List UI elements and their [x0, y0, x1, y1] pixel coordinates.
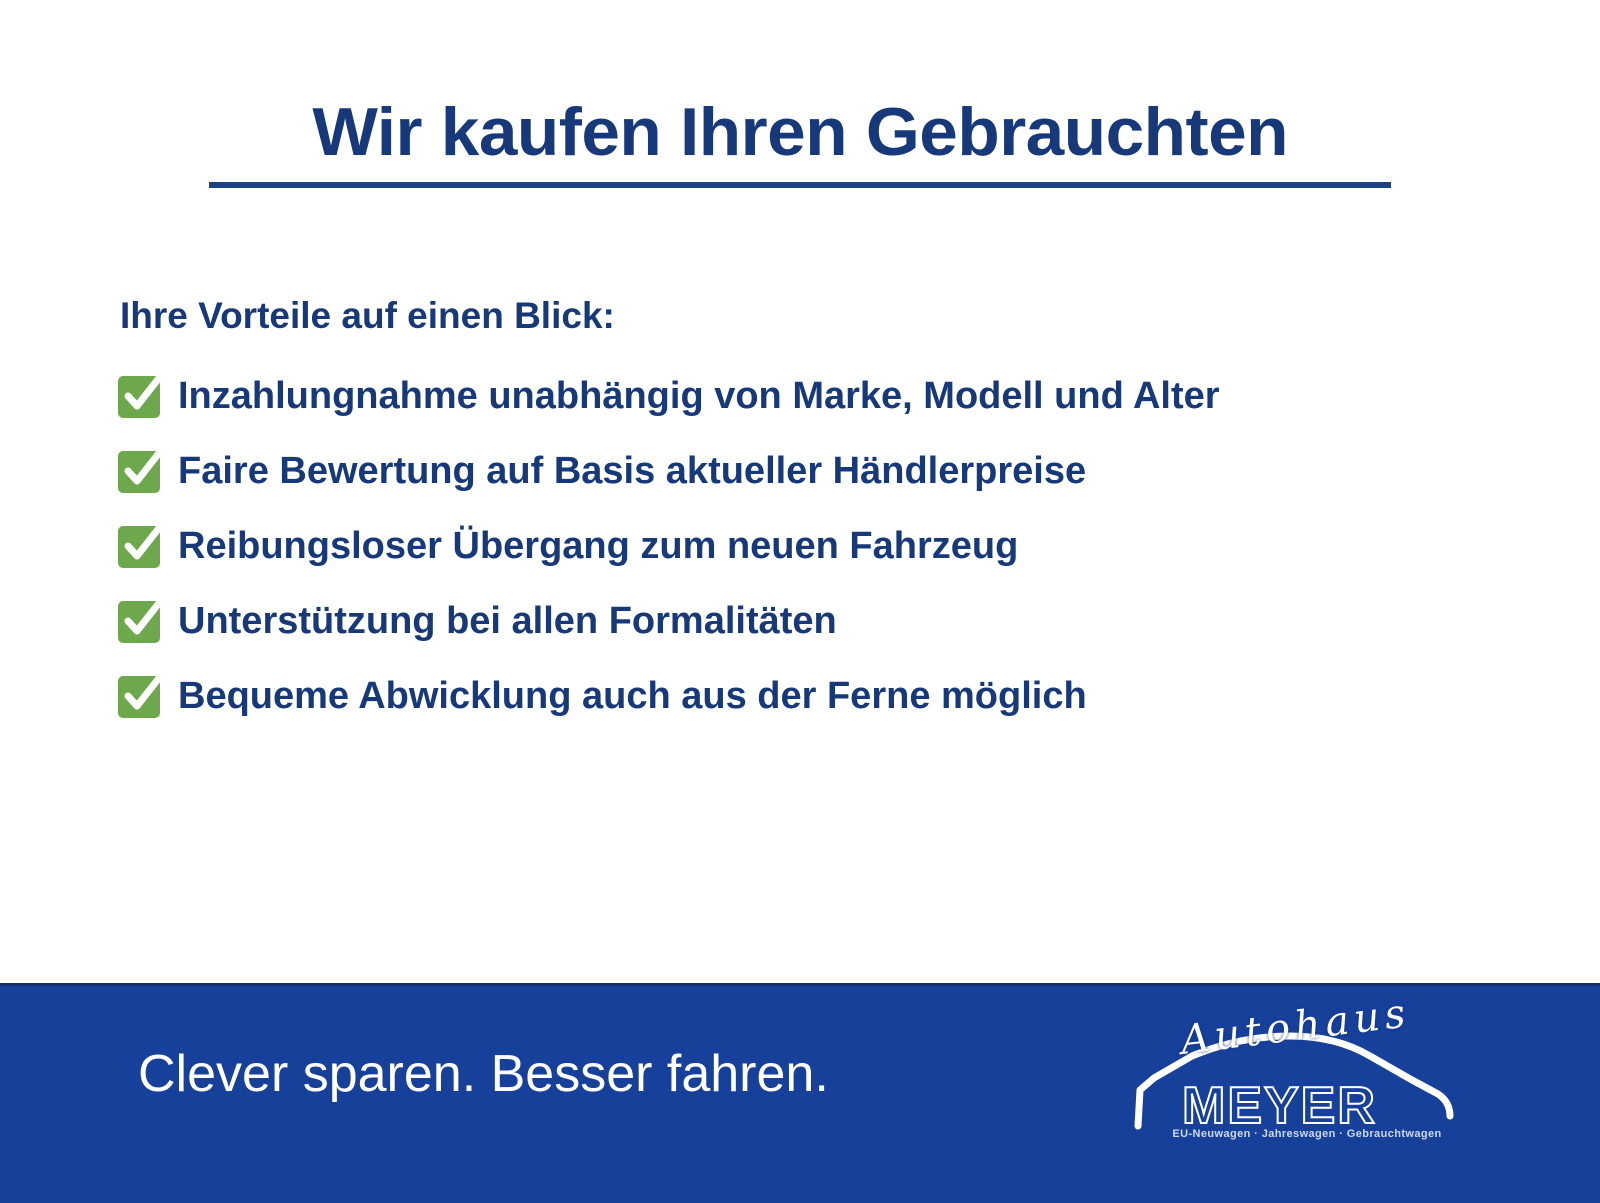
list-item: Unterstützung bei allen Formalitäten — [118, 596, 1518, 648]
list-item: Inzahlungnahme unabhängig von Marke, Mod… — [118, 371, 1518, 423]
list-item-label: Reibungsloser Übergang zum neuen Fahrzeu… — [178, 527, 1018, 567]
list-item: Bequeme Abwicklung auch aus der Ferne mö… — [118, 671, 1518, 723]
title-underline-rule — [209, 182, 1391, 188]
page-title: Wir kaufen Ihren Gebrauchten — [312, 98, 1288, 166]
check-square-icon — [118, 451, 160, 493]
footer-band: Clever sparen. Besser fahren. Autohaus M… — [0, 983, 1600, 1203]
advertisement-page: Wir kaufen Ihren Gebrauchten Ihre Vortei… — [0, 0, 1600, 1200]
benefits-section: Ihre Vorteile auf einen Blick: Inzahlung… — [118, 296, 1518, 723]
benefits-heading: Ihre Vorteile auf einen Blick: — [120, 296, 1518, 337]
check-square-icon — [118, 601, 160, 643]
logo-tagline: EU-Neuwagen · Jahreswagen · Gebrauchtwag… — [1142, 1128, 1472, 1140]
list-item: Reibungsloser Übergang zum neuen Fahrzeu… — [118, 521, 1518, 573]
check-square-icon — [118, 526, 160, 568]
list-item-label: Unterstützung bei allen Formalitäten — [178, 602, 837, 642]
check-square-icon — [118, 676, 160, 718]
list-item-label: Bequeme Abwicklung auch aus der Ferne mö… — [178, 677, 1087, 717]
dealer-logo: Autohaus MEYER EU-Neuwagen · Jahreswagen… — [1120, 998, 1460, 1148]
page-title-block: Wir kaufen Ihren Gebrauchten — [0, 98, 1600, 188]
check-square-icon — [118, 376, 160, 418]
list-item: Faire Bewertung auf Basis aktueller Händ… — [118, 446, 1518, 498]
footer-slogan: Clever sparen. Besser fahren. — [138, 1048, 829, 1100]
list-item-label: Faire Bewertung auf Basis aktueller Händ… — [178, 452, 1086, 492]
list-item-label: Inzahlungnahme unabhängig von Marke, Mod… — [178, 377, 1220, 417]
logo-wordmark: MEYER — [1182, 1076, 1377, 1136]
